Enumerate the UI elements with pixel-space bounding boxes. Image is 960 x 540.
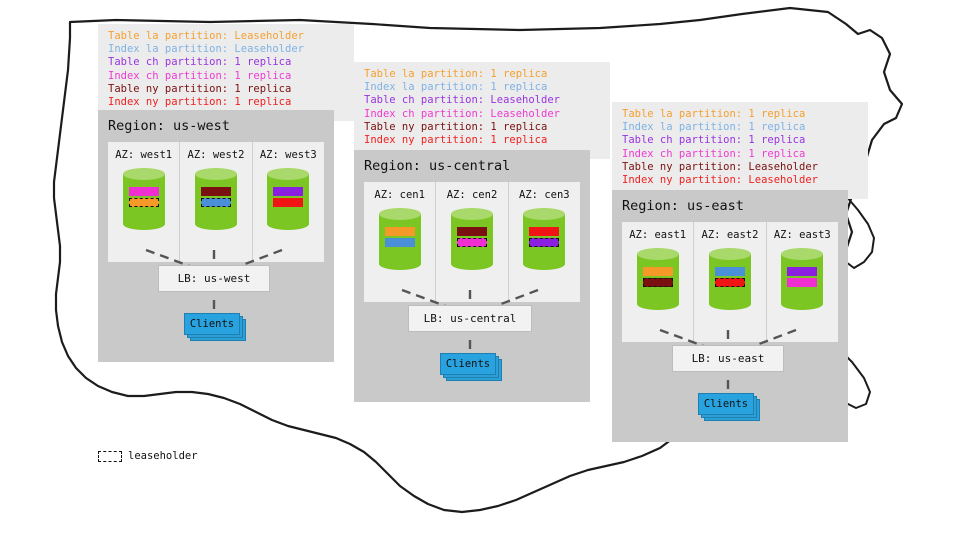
node-cylinder-east2[interactable]	[709, 248, 751, 310]
replica-band-2-leaseholder	[457, 238, 487, 247]
replica-band-2-leaseholder	[715, 278, 745, 287]
az-label: AZ: east2	[694, 229, 765, 241]
info-block-us-central: Table la partition: 1 replicaIndex la pa…	[354, 62, 610, 159]
diagram-canvas: Table la partition: LeaseholderIndex la …	[0, 0, 960, 540]
az-label: AZ: east1	[622, 229, 693, 241]
replica-band-2-leaseholder	[129, 198, 159, 207]
az-east2[interactable]: AZ: east2	[694, 222, 766, 342]
az-strip-us-central: AZ: cen1 AZ: cen2	[364, 182, 580, 302]
node-cylinder-west1[interactable]	[123, 168, 165, 230]
info-line: Index ch partition: Leaseholder	[364, 108, 600, 121]
replica-band-2	[787, 278, 817, 287]
info-line: Table ch partition: Leaseholder	[364, 94, 600, 107]
info-line: Table la partition: 1 replica	[622, 108, 858, 121]
clients-label: Clients	[184, 313, 240, 335]
replica-band-1	[273, 187, 303, 196]
region-title-us-east: Region: us-east	[622, 198, 744, 214]
region-panel-us-central: Region: us-central AZ: cen1 AZ: cen2	[354, 150, 590, 402]
cylinder-top	[379, 208, 421, 220]
node-cylinder-east3[interactable]	[781, 248, 823, 310]
az-west2[interactable]: AZ: west2	[180, 142, 252, 262]
az-label: AZ: west1	[108, 149, 179, 161]
info-line: Index ch partition: 1 replica	[622, 148, 858, 161]
info-line: Index la partition: 1 replica	[622, 121, 858, 134]
info-line: Table la partition: Leaseholder	[108, 30, 344, 43]
az-cen2[interactable]: AZ: cen2	[436, 182, 508, 302]
info-block-us-west: Table la partition: LeaseholderIndex la …	[98, 24, 354, 121]
replica-band-1	[201, 187, 231, 196]
az-west3[interactable]: AZ: west3	[253, 142, 324, 262]
cylinder-top	[451, 208, 493, 220]
clients-label: Clients	[440, 353, 496, 375]
cylinder-top	[637, 248, 679, 260]
replica-band-1	[457, 227, 487, 236]
replica-band-2	[385, 238, 415, 247]
replica-band-2-leaseholder	[529, 238, 559, 247]
node-cylinder-east1[interactable]	[637, 248, 679, 310]
cylinder-top	[523, 208, 565, 220]
az-label: AZ: cen2	[436, 189, 507, 201]
info-line: Table la partition: 1 replica	[364, 68, 600, 81]
node-cylinder-west2[interactable]	[195, 168, 237, 230]
info-line: Index ny partition: 1 replica	[364, 134, 600, 147]
info-block-us-east: Table la partition: 1 replicaIndex la pa…	[612, 102, 868, 199]
az-label: AZ: east3	[767, 229, 838, 241]
az-label: AZ: cen1	[364, 189, 435, 201]
az-cen1[interactable]: AZ: cen1	[364, 182, 436, 302]
cylinder-top	[781, 248, 823, 260]
cylinder-top	[123, 168, 165, 180]
load-balancer-us-east[interactable]: LB: us-east	[672, 345, 784, 372]
az-west1[interactable]: AZ: west1	[108, 142, 180, 262]
info-line: Index la partition: 1 replica	[364, 81, 600, 94]
cylinder-top	[267, 168, 309, 180]
az-label: AZ: west2	[180, 149, 251, 161]
az-label: AZ: cen3	[509, 189, 580, 201]
region-panel-us-east: Region: us-east AZ: east1 AZ: east2	[612, 190, 848, 442]
info-line: Index ny partition: Leaseholder	[622, 174, 858, 187]
replica-band-1	[787, 267, 817, 276]
az-strip-us-west: AZ: west1 AZ: west2	[108, 142, 324, 262]
az-east1[interactable]: AZ: east1	[622, 222, 694, 342]
leaseholder-swatch-icon	[98, 451, 122, 462]
node-cylinder-cen1[interactable]	[379, 208, 421, 270]
region-title-us-central: Region: us-central	[364, 158, 510, 174]
replica-band-1	[643, 267, 673, 276]
clients-label: Clients	[698, 393, 754, 415]
az-strip-us-east: AZ: east1 AZ: east2	[622, 222, 838, 342]
cylinder-top	[195, 168, 237, 180]
info-line: Table ny partition: 1 replica	[364, 121, 600, 134]
legend-label: leaseholder	[128, 450, 198, 462]
region-title-us-west: Region: us-west	[108, 118, 230, 134]
info-line: Index ny partition: 1 replica	[108, 96, 344, 109]
replica-band-2	[273, 198, 303, 207]
replica-band-2-leaseholder	[201, 198, 231, 207]
clients-box-us-central[interactable]: Clients	[440, 353, 502, 381]
clients-box-us-west[interactable]: Clients	[184, 313, 246, 341]
info-line: Index la partition: Leaseholder	[108, 43, 344, 56]
load-balancer-us-central[interactable]: LB: us-central	[408, 305, 532, 332]
load-balancer-us-west[interactable]: LB: us-west	[158, 265, 270, 292]
info-line: Table ny partition: 1 replica	[108, 83, 344, 96]
info-line: Table ch partition: 1 replica	[108, 56, 344, 69]
info-line: Table ny partition: Leaseholder	[622, 161, 858, 174]
cylinder-top	[709, 248, 751, 260]
node-cylinder-west3[interactable]	[267, 168, 309, 230]
replica-band-1	[385, 227, 415, 236]
node-cylinder-cen2[interactable]	[451, 208, 493, 270]
node-cylinder-cen3[interactable]	[523, 208, 565, 270]
info-line: Table ch partition: 1 replica	[622, 134, 858, 147]
legend: leaseholder	[98, 450, 198, 462]
replica-band-2-leaseholder	[643, 278, 673, 287]
replica-band-1	[715, 267, 745, 276]
replica-band-1	[529, 227, 559, 236]
az-east3[interactable]: AZ: east3	[767, 222, 838, 342]
az-label: AZ: west3	[253, 149, 324, 161]
clients-box-us-east[interactable]: Clients	[698, 393, 760, 421]
replica-band-1	[129, 187, 159, 196]
region-panel-us-west: Region: us-west AZ: west1 AZ: west2	[98, 110, 334, 362]
info-line: Index ch partition: 1 replica	[108, 70, 344, 83]
az-cen3[interactable]: AZ: cen3	[509, 182, 580, 302]
